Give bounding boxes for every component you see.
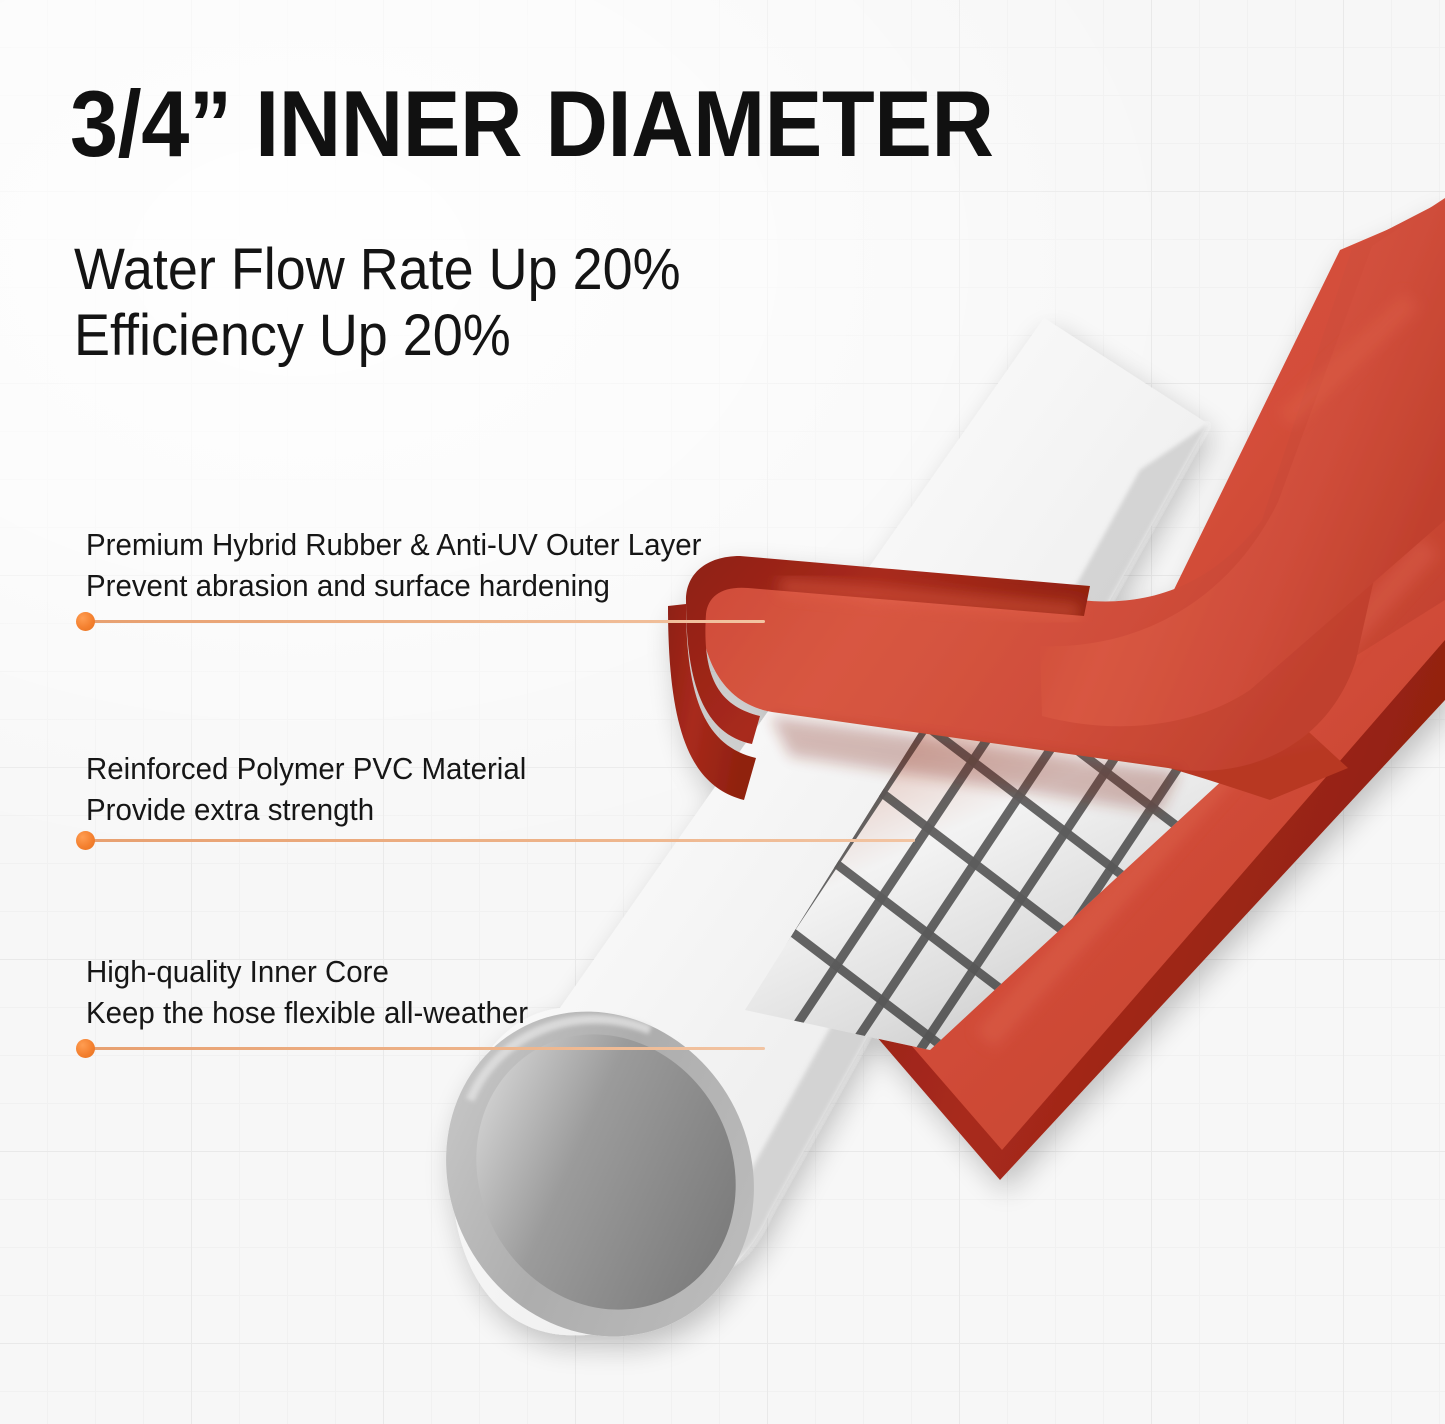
callout-title: Premium Hybrid Rubber & Anti-UV Outer La… [86, 524, 701, 565]
callout-leader-line-2 [86, 839, 915, 842]
callout-leader-dot-1 [76, 612, 95, 631]
callout-subtitle: Provide extra strength [86, 789, 526, 830]
callout-title: High-quality Inner Core [86, 951, 528, 992]
callout-leader-dot-2 [76, 831, 95, 850]
callout-pvc-material: Reinforced Polymer PVC Material Provide … [86, 748, 549, 830]
callout-leader-line-1 [86, 620, 765, 623]
callout-outer-layer: Premium Hybrid Rubber & Anti-UV Outer La… [86, 524, 734, 606]
subheadline-line-1: Water Flow Rate Up 20% [74, 237, 681, 303]
callout-leader-line-3 [86, 1047, 765, 1050]
graph-paper-background [0, 0, 1445, 1424]
subheadline-line-2: Efficiency Up 20% [74, 303, 681, 369]
callout-title: Reinforced Polymer PVC Material [86, 748, 526, 789]
subheadline: Water Flow Rate Up 20% Efficiency Up 20% [74, 237, 681, 368]
callout-inner-core: High-quality Inner Core Keep the hose fl… [86, 951, 551, 1033]
callout-leader-dot-3 [76, 1039, 95, 1058]
callout-subtitle: Prevent abrasion and surface hardening [86, 565, 701, 606]
page-title: 3/4” INNER DIAMETER [70, 77, 993, 171]
product-infographic-page: 3/4” INNER DIAMETER Water Flow Rate Up 2… [0, 0, 1445, 1424]
callout-subtitle: Keep the hose flexible all-weather [86, 992, 528, 1033]
